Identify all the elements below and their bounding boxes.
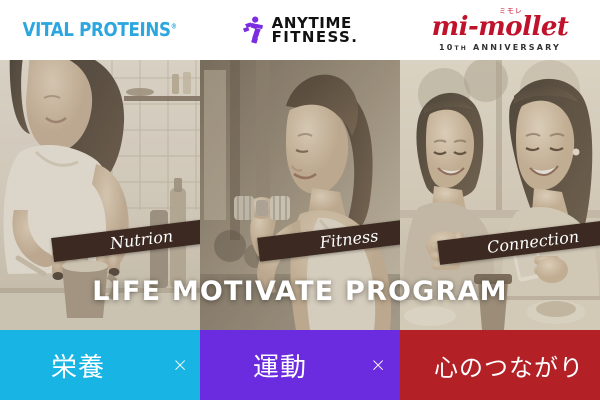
colorbar-segment-fitness[interactable]: 運動 × bbox=[200, 330, 400, 400]
logo-bar: VITAL PROTEINS® bbox=[0, 0, 600, 60]
ribbon-fitness-label: Fitness bbox=[319, 226, 380, 252]
nutrition-photo bbox=[0, 60, 200, 330]
colorbar-label-connection: 心のつながり bbox=[434, 348, 584, 383]
mi-mollet-furigana: ミモレ bbox=[499, 6, 523, 16]
running-man-icon bbox=[242, 15, 268, 45]
mi-mollet-anniversary: 10TH ANNIVERSARY bbox=[439, 43, 561, 52]
colorbar-label-nutrition: 栄養 bbox=[51, 347, 105, 384]
mi-mollet-text: mi-mollet bbox=[432, 13, 569, 42]
life-motivate-program-banner: VITAL PROTEINS® bbox=[0, 0, 600, 400]
fitness-photo bbox=[200, 60, 400, 330]
registered-trademark-icon: ® bbox=[171, 23, 177, 31]
anniversary-suffix: TH bbox=[454, 45, 468, 52]
vital-proteins-wordmark: VITAL PROTEINS® bbox=[23, 19, 178, 41]
mi-mollet-wordmark: ミモレ mi-mollet 10TH ANNIVERSARY bbox=[432, 8, 569, 52]
logo-vital-proteins[interactable]: VITAL PROTEINS® bbox=[0, 0, 200, 60]
photo-panel-connection: Connection bbox=[400, 60, 600, 330]
anytime-fitness-text: ANYTIME FITNESS. bbox=[272, 16, 359, 45]
anniversary-number: 10 bbox=[439, 43, 455, 52]
colorbar-segment-connection[interactable]: 心のつながり bbox=[400, 330, 600, 400]
multiply-separator-2: × bbox=[370, 354, 386, 376]
logo-mi-mollet[interactable]: ミモレ mi-mollet 10TH ANNIVERSARY bbox=[400, 0, 600, 60]
concept-color-bar: 栄養 × 運動 × 心のつながり bbox=[0, 330, 600, 400]
colorbar-label-fitness: 運動 bbox=[253, 347, 307, 384]
photo-panel-fitness: Fitness bbox=[200, 60, 400, 330]
colorbar-segment-nutrition[interactable]: 栄養 × bbox=[0, 330, 200, 400]
photo-strip: Nutrion bbox=[0, 60, 600, 330]
connection-photo bbox=[400, 60, 600, 330]
anytime-fitness-wordmark: ANYTIME FITNESS. bbox=[242, 15, 359, 45]
multiply-separator-1: × bbox=[172, 354, 188, 376]
logo-anytime-fitness[interactable]: ANYTIME FITNESS. bbox=[200, 0, 400, 60]
photo-panel-nutrition: Nutrion bbox=[0, 60, 200, 330]
vital-proteins-text: VITAL PROTEINS bbox=[23, 19, 172, 41]
anytime-fitness-line2: FITNESS. bbox=[272, 30, 359, 44]
anniversary-word: ANNIVERSARY bbox=[473, 43, 561, 52]
